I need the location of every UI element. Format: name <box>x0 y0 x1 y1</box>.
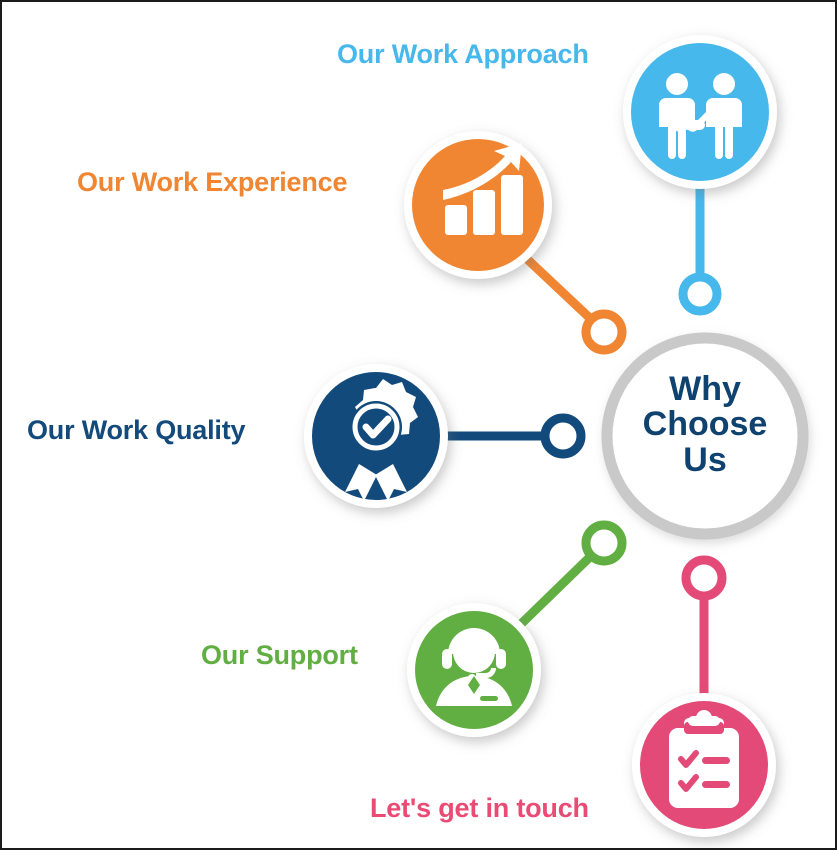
node-get-in-touch[interactable] <box>632 693 776 837</box>
label-work-quality[interactable]: Our Work Quality <box>27 417 245 444</box>
connector-ring-work-quality <box>545 418 581 454</box>
connector-get-in-touch <box>686 560 722 702</box>
node-work-experience[interactable] <box>404 131 552 279</box>
connector-work-approach <box>683 182 717 311</box>
why-choose-us-infographic: Our Work Approach Our Work Experience Ou… <box>0 0 837 850</box>
connector-line-support <box>522 553 594 623</box>
circle-work-approach <box>631 43 769 181</box>
connector-ring-work-approach <box>683 277 717 311</box>
connector-ring-work-experience <box>586 314 622 350</box>
connector-work-experience <box>526 258 622 350</box>
node-work-quality[interactable] <box>304 364 448 508</box>
label-work-approach[interactable]: Our Work Approach <box>337 41 589 68</box>
node-work-approach[interactable] <box>623 35 777 189</box>
center-title: Why Choose Us <box>615 372 795 478</box>
node-support[interactable] <box>407 603 541 737</box>
connector-work-quality <box>434 418 581 454</box>
label-support[interactable]: Our Support <box>201 642 358 669</box>
connector-line-work-experience <box>526 258 594 322</box>
connector-ring-support <box>586 525 622 561</box>
label-work-experience[interactable]: Our Work Experience <box>77 169 347 196</box>
label-get-in-touch[interactable]: Let's get in touch <box>370 795 589 822</box>
connector-ring-get-in-touch <box>686 560 722 596</box>
connector-support <box>522 525 622 623</box>
